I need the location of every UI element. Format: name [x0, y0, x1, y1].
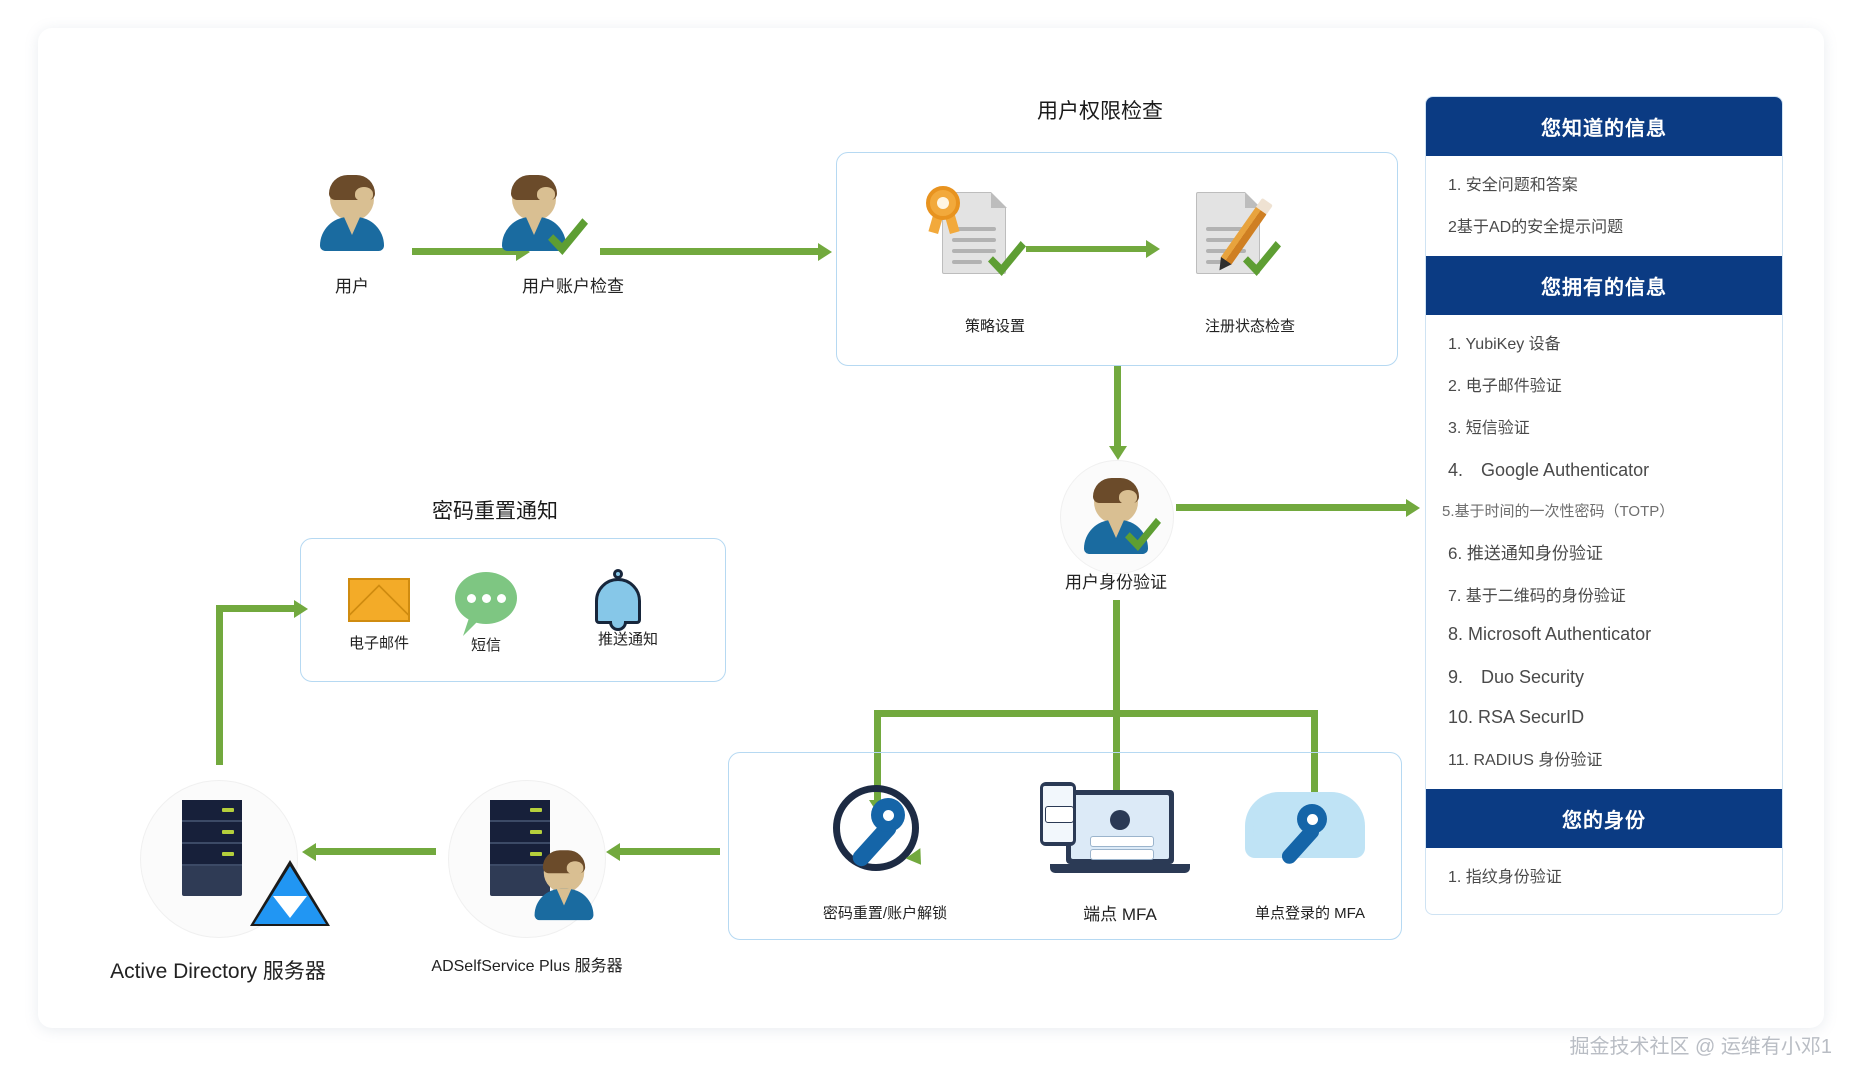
envelope-icon	[348, 578, 410, 622]
panel-item[interactable]: 1. 安全问题和答案	[1426, 162, 1782, 204]
node-label-user-account-check: 用户账户检查	[483, 272, 663, 297]
panel-item[interactable]: 6. 推送通知身份验证	[1426, 530, 1782, 573]
login-password-field	[1090, 849, 1154, 860]
panel-item[interactable]: 9. Duo Security	[1426, 654, 1782, 698]
notification-label-push: 推送通知	[568, 628, 688, 649]
arrowhead-account-check-to-permission-box	[818, 243, 832, 261]
panel-header-identity: 您的身份	[1426, 789, 1782, 848]
watermark: 掘金技术社区 @ 运维有小邓1	[1569, 1030, 1832, 1059]
mfa-label-password-reset: 密码重置/账户解锁	[790, 902, 980, 923]
panel-item[interactable]: 11. RADIUS 身份验证	[1426, 737, 1782, 779]
panel-item[interactable]: 1. 指纹身份验证	[1426, 854, 1782, 896]
arrow-mfa-to-adssp	[620, 848, 720, 855]
arrowhead-policy-to-registration	[1146, 240, 1160, 258]
otp-bubble-icon	[1045, 806, 1074, 823]
login-username-field	[1090, 836, 1154, 847]
panel-item[interactable]: 2基于AD的安全提示问题	[1426, 204, 1782, 246]
panel-item[interactable]: 5.基于时间的一次性密码（TOTP）	[1426, 491, 1782, 530]
panel-item[interactable]: 7. 基于二维码的身份验证	[1426, 573, 1782, 615]
identity-check-mark-icon	[1125, 515, 1161, 551]
arrowhead-mfa-to-adssp	[606, 843, 620, 861]
notification-label-sms: 短信	[441, 634, 531, 655]
mfa-label-endpoint-mfa: 端点 MFA	[1040, 900, 1200, 925]
adssp-users-icon	[531, 850, 597, 902]
arrowhead-ad-to-notification	[294, 600, 308, 618]
registration-check-mark-icon	[1243, 238, 1281, 276]
panel-item[interactable]: 8. Microsoft Authenticator	[1426, 615, 1782, 654]
panel-body-have: 1. YubiKey 设备 2. 电子邮件验证 3. 短信验证 4. Googl…	[1426, 315, 1782, 789]
panel-header-know: 您知道的信息	[1426, 97, 1782, 156]
login-avatar-icon	[1110, 810, 1130, 830]
panel-item[interactable]: 3. 短信验证	[1426, 405, 1782, 447]
policy-check-mark-icon	[988, 238, 1026, 276]
authentication-methods-panel: 您知道的信息 1. 安全问题和答案 2基于AD的安全提示问题 您拥有的信息 1.…	[1425, 96, 1783, 915]
arrow-adssp-to-ad	[316, 848, 436, 855]
node-label-policy-setting: 策略设置	[900, 315, 1090, 336]
panel-header-have: 您拥有的信息	[1426, 256, 1782, 315]
node-label-user: 用户	[300, 272, 404, 297]
check-mark-icon	[548, 215, 588, 255]
arrow-policy-to-registration	[1026, 246, 1146, 252]
notification-label-email: 电子邮件	[329, 632, 429, 653]
panel-item[interactable]: 4. Google Authenticator	[1426, 447, 1782, 491]
node-label-user-identity-verification: 用户身份验证	[1030, 568, 1202, 593]
azure-ad-logo-icon	[250, 860, 330, 926]
arrow-account-check-to-permission-box	[600, 248, 818, 255]
arrow-ad-to-notification-horizontal	[216, 605, 294, 612]
diagram-canvas: 用户 用户账户检查 用户权限检查 策略设置 注册状态检查	[0, 0, 1862, 1073]
panel-item[interactable]: 10. RSA SecurID	[1426, 698, 1782, 737]
arrowhead-adssp-to-ad	[302, 843, 316, 861]
key-head-icon	[871, 798, 905, 832]
branch-bus-horizontal	[874, 710, 1318, 717]
panel-item[interactable]: 2. 电子邮件验证	[1426, 363, 1782, 405]
bell-icon	[595, 578, 641, 624]
section-title-password-reset-notice: 密码重置通知	[370, 495, 620, 525]
arrow-identity-to-panel	[1176, 504, 1408, 511]
arrow-permission-to-identity-vertical	[1114, 366, 1121, 446]
arrowhead-identity-to-panel	[1406, 499, 1420, 517]
panel-section-have: 您拥有的信息 1. YubiKey 设备 2. 电子邮件验证 3. 短信验证 4…	[1426, 256, 1782, 789]
node-label-registration-status-check: 注册状态检查	[1150, 315, 1350, 336]
section-title-permission-check: 用户权限检查	[930, 95, 1270, 125]
cloud-key-head-icon	[1297, 804, 1327, 834]
branch-trunk-vertical	[1113, 600, 1120, 716]
panel-body-know: 1. 安全问题和答案 2基于AD的安全提示问题	[1426, 156, 1782, 256]
panel-body-identity: 1. 指纹身份验证	[1426, 848, 1782, 914]
panel-item[interactable]: 1. YubiKey 设备	[1426, 321, 1782, 363]
node-label-active-directory-server: Active Directory 服务器	[88, 955, 348, 985]
arrowhead-permission-to-identity	[1109, 446, 1127, 460]
award-ribbon-icon	[926, 186, 960, 220]
node-label-adselfservice-plus-server: ADSelfService Plus 服务器	[396, 952, 658, 976]
laptop-base-icon	[1050, 864, 1190, 873]
active-directory-server-icon	[182, 800, 242, 896]
panel-section-know: 您知道的信息 1. 安全问题和答案 2基于AD的安全提示问题	[1426, 97, 1782, 256]
user-avatar-icon	[316, 175, 388, 253]
panel-section-identity: 您的身份 1. 指纹身份验证	[1426, 789, 1782, 914]
arrow-ad-to-notification-vertical	[216, 605, 223, 765]
sms-bubble-icon	[455, 572, 517, 624]
mfa-label-sso-mfa: 单点登录的 MFA	[1225, 902, 1395, 923]
